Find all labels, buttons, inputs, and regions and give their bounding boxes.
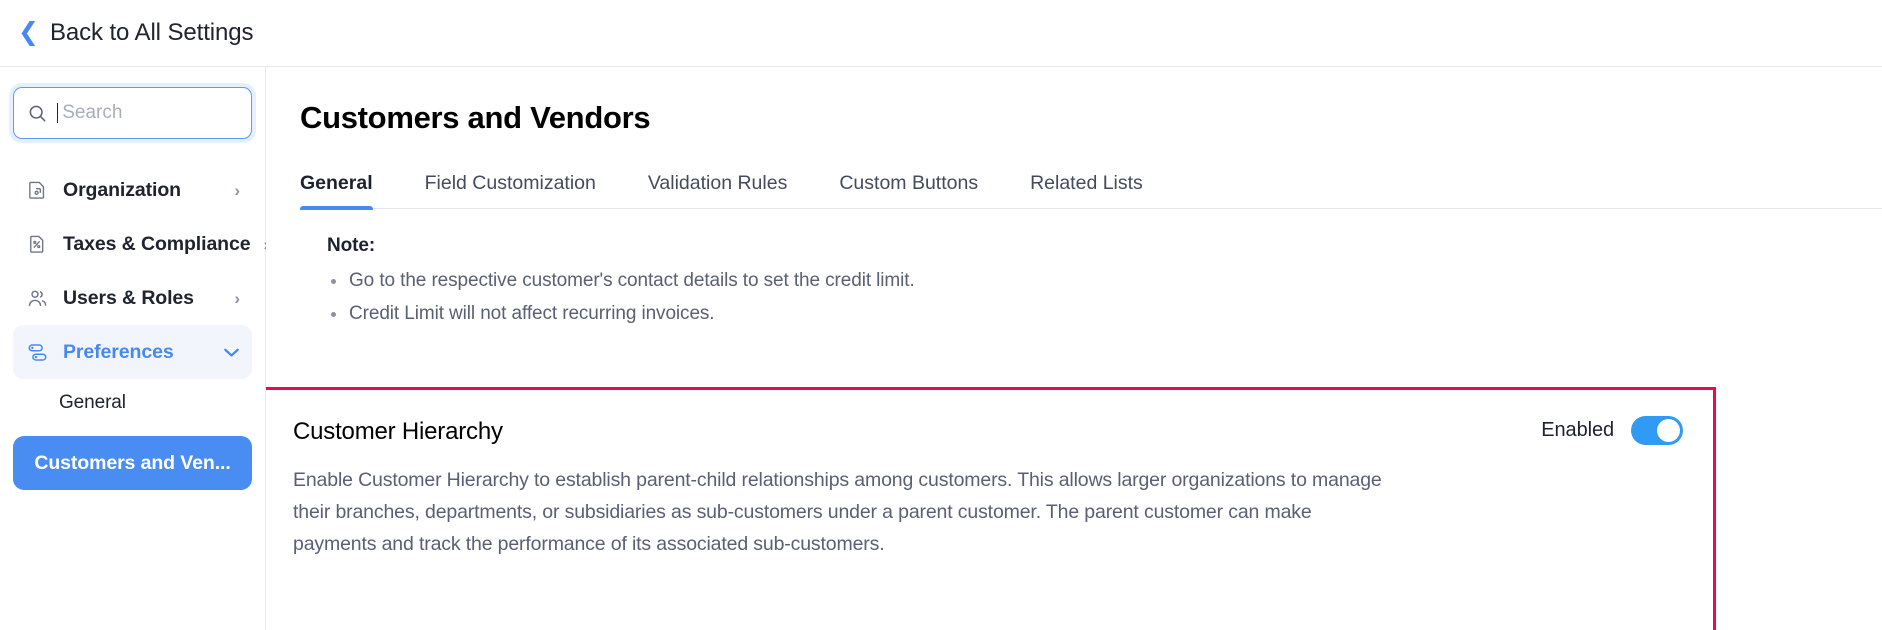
chevron-down-icon <box>223 347 240 358</box>
note-title: Note: <box>327 235 1882 257</box>
main-content: Customers and Vendors General Field Cust… <box>266 67 1882 630</box>
tab-related-lists[interactable]: Related Lists <box>1030 172 1143 208</box>
enabled-toggle-group: Enabled <box>1541 416 1683 445</box>
users-icon <box>24 287 50 310</box>
toggle-knob <box>1657 419 1680 442</box>
tab-bar: General Field Customization Validation R… <box>300 172 1882 209</box>
toggle-label: Enabled <box>1541 419 1614 442</box>
sliders-icon <box>24 341 50 364</box>
page-title: Customers and Vendors <box>300 100 1882 136</box>
sidebar-item-label: Organization <box>63 179 221 202</box>
card-description: Enable Customer Hierarchy to establish p… <box>293 464 1393 560</box>
customer-hierarchy-toggle[interactable] <box>1631 416 1683 445</box>
note-block: Note: Go to the respective customer's co… <box>300 235 1882 327</box>
chevron-left-icon: ❮ <box>18 20 39 45</box>
search-icon <box>28 104 47 123</box>
back-link-label: Back to All Settings <box>50 19 253 47</box>
text-cursor <box>57 103 58 123</box>
search-box[interactable] <box>13 87 252 139</box>
sidebar-item-label: Taxes & Compliance <box>63 233 251 256</box>
sidebar-subitem-customers-and-vendors[interactable]: Customers and Ven... <box>13 436 252 490</box>
top-bar: ❮ Back to All Settings <box>0 0 1882 67</box>
sidebar-item-label: Preferences <box>63 341 210 364</box>
tab-custom-buttons[interactable]: Custom Buttons <box>839 172 978 208</box>
sidebar-subitem-label: General <box>59 392 126 414</box>
chevron-right-icon: › <box>234 182 240 199</box>
back-to-all-settings-link[interactable]: ❮ Back to All Settings <box>18 19 253 47</box>
tax-document-icon <box>24 233 50 255</box>
search-input[interactable] <box>62 102 237 124</box>
note-list: Go to the respective customer's contact … <box>327 268 1882 327</box>
sidebar-nav: Organization › Taxes & Compliance › <box>13 163 252 490</box>
chevron-right-icon: › <box>234 290 240 307</box>
sidebar-item-label: Users & Roles <box>63 287 221 310</box>
note-list-item: Credit Limit will not affect recurring i… <box>327 301 1882 327</box>
note-list-item: Go to the respective customer's contact … <box>327 268 1882 294</box>
page-body: Organization › Taxes & Compliance › <box>0 67 1882 630</box>
settings-sidebar: Organization › Taxes & Compliance › <box>0 67 266 630</box>
sidebar-subitem-general[interactable]: General <box>13 379 252 427</box>
sidebar-item-organization[interactable]: Organization › <box>13 163 252 217</box>
tab-validation-rules[interactable]: Validation Rules <box>648 172 787 208</box>
tab-field-customization[interactable]: Field Customization <box>425 172 596 208</box>
tab-general[interactable]: General <box>300 172 373 208</box>
customer-hierarchy-card: Customer Hierarchy Enabled Enable Custom… <box>266 387 1716 630</box>
sidebar-item-users-roles[interactable]: Users & Roles › <box>13 271 252 325</box>
sidebar-subitem-label: Customers and Ven... <box>34 452 230 475</box>
card-header: Customer Hierarchy Enabled <box>293 412 1683 446</box>
sidebar-item-taxes-compliance[interactable]: Taxes & Compliance › <box>13 217 252 271</box>
organization-icon <box>24 179 50 201</box>
settings-page: ❮ Back to All Settings <box>0 0 1882 630</box>
card-title: Customer Hierarchy <box>293 418 503 446</box>
sidebar-item-preferences[interactable]: Preferences <box>13 325 252 379</box>
